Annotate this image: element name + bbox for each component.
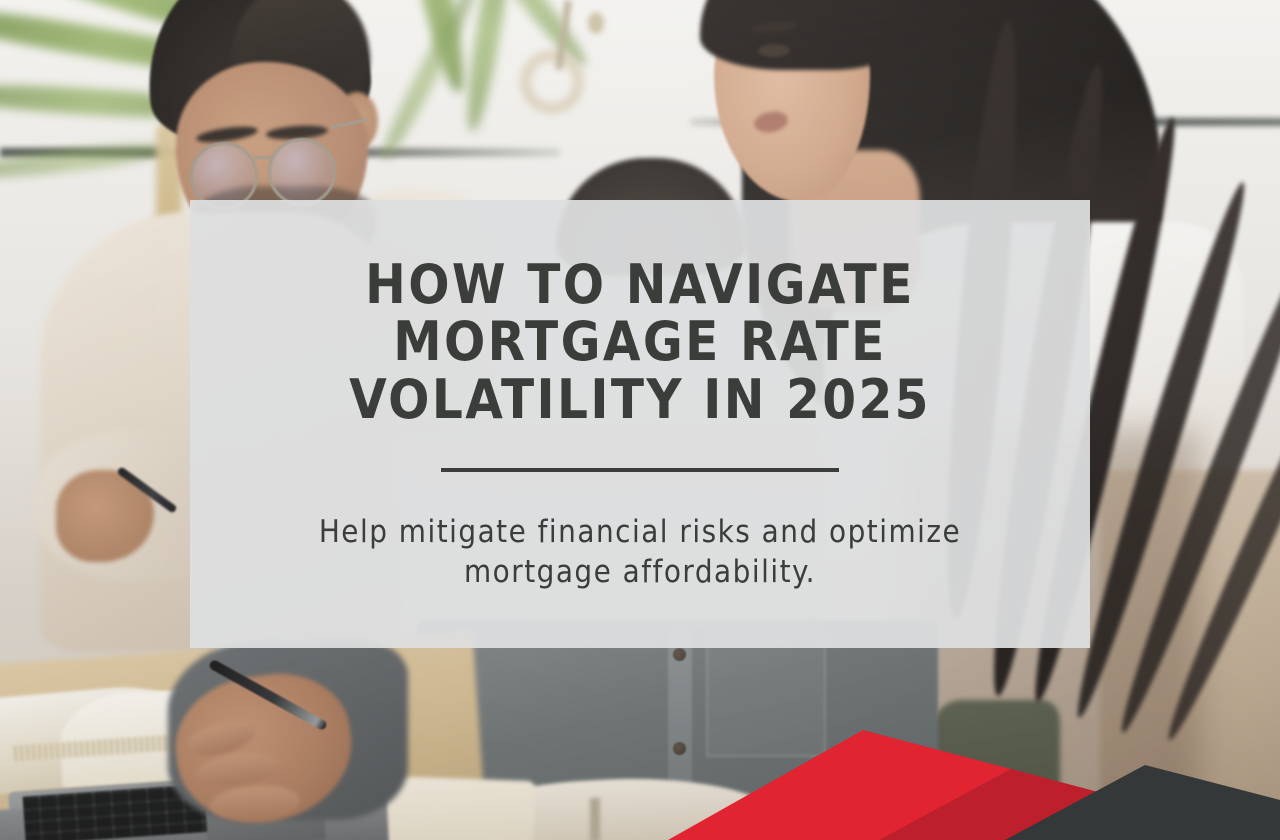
woman-fringe	[700, 0, 910, 70]
eyeglasses-lens	[268, 138, 336, 206]
page-subtitle: Help mitigate financial risks and optimi…	[255, 512, 1025, 593]
woman-eye	[758, 44, 790, 57]
shirt-pocket	[706, 632, 826, 757]
book-spine	[590, 798, 600, 840]
headline-card: How to Navigate Mortgage Rate Volatility…	[190, 200, 1090, 648]
title-divider	[441, 468, 839, 472]
shirt-button	[673, 648, 686, 661]
page-title: How to Navigate Mortgage Rate Volatility…	[290, 256, 990, 429]
dried-bud	[588, 12, 604, 34]
shirt-button	[673, 742, 686, 755]
eyeglasses-bridge	[254, 156, 274, 159]
decor-ring	[520, 50, 584, 114]
blog-banner: How to Navigate Mortgage Rate Volatility…	[0, 0, 1280, 840]
olive-fabric	[930, 700, 1060, 840]
